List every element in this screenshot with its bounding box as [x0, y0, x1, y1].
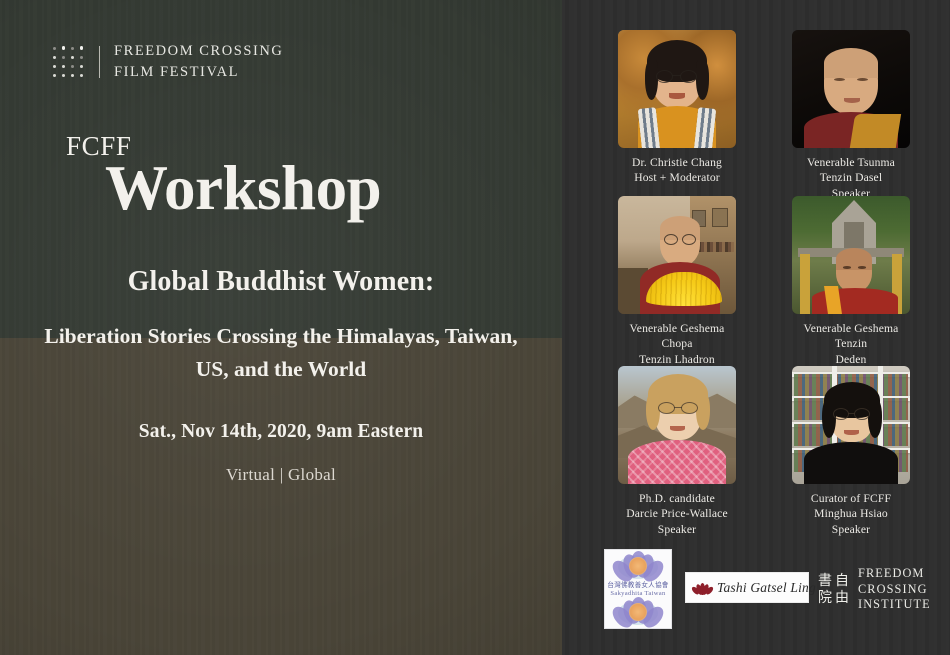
page-title: Workshop [105, 155, 381, 221]
right-panel: Dr. Christie Chang Host + Moderator [562, 0, 950, 655]
speaker-name-line1: Venerable Geshema Tenzin [804, 322, 899, 350]
speaker-name-line1: Venerable Geshema Chopa [630, 322, 725, 350]
speaker-caption: Dr. Christie Chang Host + Moderator [618, 155, 736, 186]
fci-line3: INSTITUTE [858, 597, 931, 613]
fci-wordmark: FREEDOM CROSSING INSTITUTE [858, 566, 931, 613]
fci-line1: FREEDOM [858, 566, 931, 582]
lotus-icon [615, 551, 661, 583]
speaker-card: Dr. Christie Chang Host + Moderator [618, 30, 736, 186]
speaker-role: Speaker [618, 522, 736, 537]
speaker-name-line1: Venerable Tsunma [807, 156, 895, 169]
portrait-minghua-hsiao [792, 366, 910, 484]
speaker-name: Dr. Christie Chang [632, 156, 722, 169]
portrait-tenzin-dasel [792, 30, 910, 148]
poster-canvas: FREEDOM CROSSING FILM FESTIVAL FCFF Work… [0, 0, 950, 655]
speaker-role: Speaker [792, 522, 910, 537]
logo-wordmark: FREEDOM CROSSING FILM FESTIVAL [114, 41, 283, 82]
fci-cn-1: 書 [817, 573, 833, 589]
logo-wordmark-line1: FREEDOM CROSSING [114, 41, 283, 62]
speaker-role: Host + Moderator [618, 170, 736, 185]
sponsor-logos: 台灣佛教善女人協會 Sakyadhita Taiwan [562, 548, 950, 634]
portrait-tenzin-deden [792, 196, 910, 314]
tashi-gatsel-ling-logo: Tashi Gatsel Ling [685, 572, 809, 603]
event-location: Virtual | Global [0, 465, 562, 485]
fci-line2: CROSSING [858, 582, 931, 598]
lotus-icon [615, 597, 661, 629]
logo-divider [99, 46, 100, 78]
speaker-name-line2: Minghua Hsiao [814, 507, 888, 520]
speaker-name-line1: Ph.D. candidate [639, 492, 715, 505]
sakyadhita-taiwan-logo: 台灣佛教善女人協會 Sakyadhita Taiwan [604, 549, 672, 629]
portrait-darcie-price-wallace [618, 366, 736, 484]
logo-wordmark-line2: FILM FESTIVAL [114, 62, 283, 83]
speaker-name-line1: Curator of FCFF [811, 492, 891, 505]
speaker-card: Venerable Geshema Tenzin Deden Speaker [792, 196, 910, 383]
speaker-name-line2: Deden [835, 353, 866, 366]
speaker-caption: Ph.D. candidate Darcie Price-Wallace Spe… [618, 491, 736, 537]
dot-grid-icon [50, 44, 86, 80]
speaker-name-line2: Darcie Price-Wallace [626, 507, 728, 520]
sakyadhita-wordmark: 台灣佛教善女人協會 Sakyadhita Taiwan [605, 582, 671, 598]
tashi-wordmark: Tashi Gatsel Ling [717, 580, 816, 596]
fci-cn-4: 由 [834, 590, 850, 606]
speaker-name-line2: Tenzin Dasel [820, 171, 882, 184]
fci-chinese-mark: 書 自 院 由 [817, 573, 850, 606]
speaker-card: Curator of FCFF Minghua Hsiao Speaker [792, 366, 910, 537]
fci-cn-2: 自 [834, 573, 850, 589]
speaker-card: Ph.D. candidate Darcie Price-Wallace Spe… [618, 366, 736, 537]
description: Liberation Stories Crossing the Himalaya… [0, 320, 562, 387]
subtitle: Global Buddhist Women: [0, 266, 562, 298]
sakyadhita-chinese: 台灣佛教善女人協會 [605, 582, 671, 590]
lotus-icon [693, 581, 711, 595]
speaker-card: Venerable Geshema Chopa Tenzin Lhadron S… [618, 196, 736, 383]
portrait-tenzin-lhadron [618, 196, 736, 314]
speaker-name-line2: Tenzin Lhadron [639, 353, 715, 366]
speaker-card: Venerable Tsunma Tenzin Dasel Speaker [792, 30, 910, 201]
festival-logo: FREEDOM CROSSING FILM FESTIVAL [50, 41, 283, 82]
freedom-crossing-institute-logo: 書 自 院 由 FREEDOM CROSSING INSTITUTE [817, 566, 931, 613]
speaker-caption: Curator of FCFF Minghua Hsiao Speaker [792, 491, 910, 537]
event-datetime: Sat., Nov 14th, 2020, 9am Eastern [0, 421, 562, 443]
fci-cn-3: 院 [817, 590, 833, 606]
portrait-christie-chang [618, 30, 736, 148]
speaker-caption: Venerable Tsunma Tenzin Dasel Speaker [792, 155, 910, 201]
